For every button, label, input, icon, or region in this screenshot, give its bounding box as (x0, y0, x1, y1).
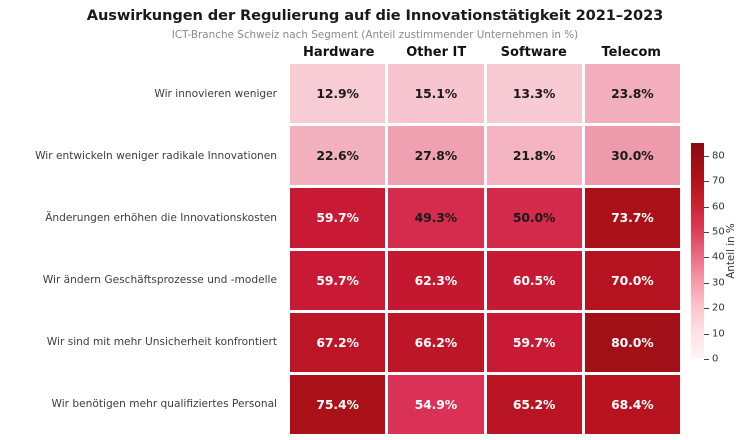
colorbar-tick (704, 257, 709, 258)
column-header-hardware: Hardware (290, 45, 388, 63)
heatmap-cell: 23.8% (585, 64, 680, 123)
column-header-software: Software (485, 45, 583, 63)
heatmap-cell: 75.4% (290, 375, 385, 434)
colorbar-tick-label: 50 (712, 226, 725, 237)
heatmap-cell: 54.9% (388, 375, 483, 434)
heatmap-cell: 60.5% (487, 251, 582, 310)
row-label: Wir ändern Geschäftsprozesse und -modell… (0, 251, 283, 310)
colorbar-tick-label: 20 (712, 303, 725, 314)
heatmap-grid: 12.9%15.1%13.3%23.8%22.6%27.8%21.8%30.0%… (290, 64, 680, 434)
colorbar-tick (704, 181, 709, 182)
heatmap-cell: 15.1% (388, 64, 483, 123)
colorbar-tick (704, 283, 709, 284)
colorbar-tick-label: 30 (712, 277, 725, 288)
colorbar-tick-label: 80 (712, 150, 725, 161)
colorbar-tick (704, 359, 709, 360)
column-header-telecom: Telecom (583, 45, 681, 63)
colorbar: Anteil in % 01020304050607080 (691, 143, 750, 359)
page-subtitle: ICT-Branche Schweiz nach Segment (Anteil… (0, 29, 750, 41)
heatmap-cell: 59.7% (290, 251, 385, 310)
heatmap-cell: 21.8% (487, 126, 582, 185)
column-header-row: HardwareOther ITSoftwareTelecom (290, 45, 680, 63)
colorbar-tick-label: 40 (712, 252, 725, 263)
row-label: Wir innovieren weniger (0, 64, 283, 123)
heatmap-cell: 12.9% (290, 64, 385, 123)
heatmap-cell: 59.7% (290, 188, 385, 247)
colorbar-gradient (691, 143, 704, 359)
heatmap-cell: 50.0% (487, 188, 582, 247)
colorbar-tick (704, 156, 709, 157)
heatmap-figure: Auswirkungen der Regulierung auf die Inn… (0, 0, 750, 440)
row-label: Änderungen erhöhen die Innovationskosten (0, 188, 283, 247)
heatmap-cell: 65.2% (487, 375, 582, 434)
colorbar-tick-label: 70 (712, 176, 725, 187)
heatmap-cell: 68.4% (585, 375, 680, 434)
colorbar-tick-label: 10 (712, 328, 725, 339)
row-label: Wir entwickeln weniger radikale Innovati… (0, 126, 283, 185)
colorbar-tick (704, 232, 709, 233)
colorbar-tick (704, 308, 709, 309)
heatmap-cell: 22.6% (290, 126, 385, 185)
heatmap-cell: 67.2% (290, 313, 385, 372)
heatmap-cell: 70.0% (585, 251, 680, 310)
colorbar-tick (704, 207, 709, 208)
colorbar-tick-label: 0 (712, 354, 718, 365)
heatmap-cell: 66.2% (388, 313, 483, 372)
heatmap-cell: 59.7% (487, 313, 582, 372)
heatmap-cell: 80.0% (585, 313, 680, 372)
page-title: Auswirkungen der Regulierung auf die Inn… (0, 7, 750, 24)
colorbar-tick-label: 60 (712, 201, 725, 212)
heatmap-cell: 62.3% (388, 251, 483, 310)
colorbar-axis-label: Anteil in % (725, 223, 737, 278)
heatmap-cell: 27.8% (388, 126, 483, 185)
heatmap-cell: 30.0% (585, 126, 680, 185)
colorbar-tick (704, 334, 709, 335)
row-label-column: Wir innovieren wenigerWir entwickeln wen… (0, 64, 283, 434)
heatmap-cell: 49.3% (388, 188, 483, 247)
row-label: Wir sind mit mehr Unsicherheit konfronti… (0, 313, 283, 372)
column-header-other-it: Other IT (388, 45, 486, 63)
heatmap-cell: 73.7% (585, 188, 680, 247)
row-label: Wir benötigen mehr qualifiziertes Person… (0, 375, 283, 434)
heatmap-cell: 13.3% (487, 64, 582, 123)
